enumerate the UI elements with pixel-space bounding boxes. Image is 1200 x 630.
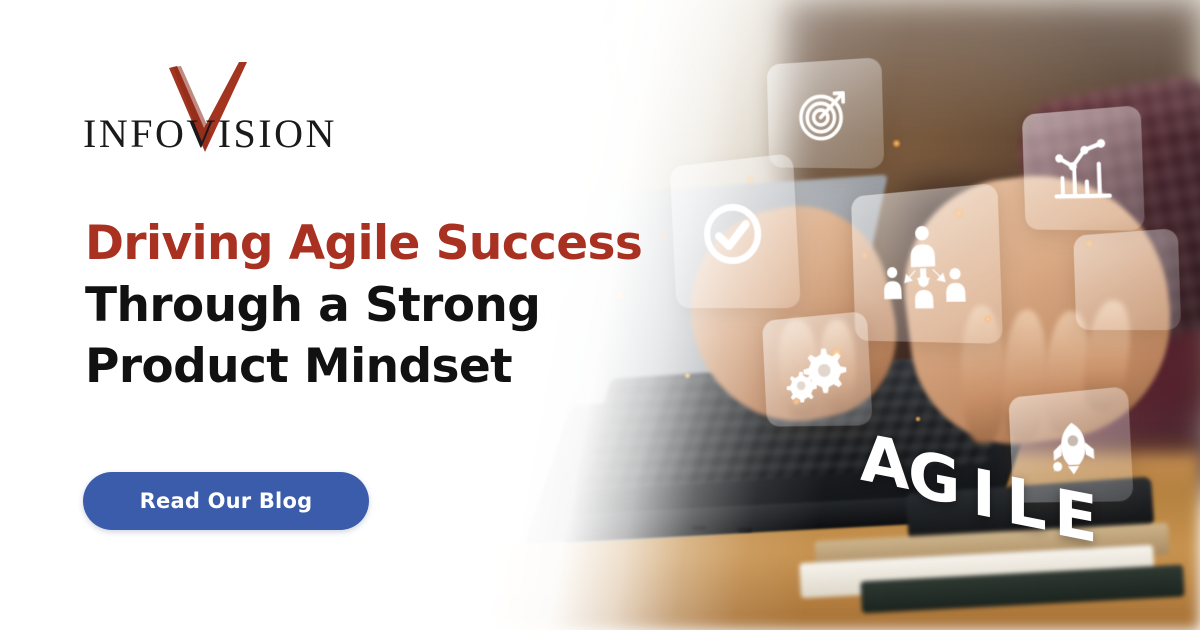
icon-card-target <box>767 57 885 169</box>
target-icon <box>793 82 854 146</box>
logo-wordmark: INFOVISION <box>83 110 337 157</box>
gears-icon <box>784 338 848 403</box>
org-chart-icon <box>877 219 971 310</box>
read-our-blog-button[interactable]: Read Our Blog <box>83 472 369 530</box>
logo[interactable]: INFOVISION <box>83 62 313 142</box>
headline-line-1: Driving Agile Success <box>85 213 695 275</box>
headline-line-2: Through a Strong <box>85 275 695 337</box>
check-circle-icon <box>696 194 770 272</box>
icon-card-gears <box>762 311 873 427</box>
icon-card-org-chart <box>851 183 1003 344</box>
headline: Driving Agile Success Through a Strong P… <box>85 213 695 398</box>
content-panel: INFOVISION Driving Agile Success Through… <box>0 0 700 630</box>
bar-chart-icon <box>1046 134 1117 205</box>
marketing-banner: A G I L E INFOVISION Driving Agile Succe… <box>0 0 1200 630</box>
icon-card-rocket <box>1008 386 1133 503</box>
icon-card-partial <box>1073 228 1181 330</box>
icon-card-bar-chart <box>1022 105 1145 231</box>
laptop-port <box>738 528 752 532</box>
headline-line-3: Product Mindset <box>85 336 695 398</box>
rocket-icon <box>1039 415 1099 478</box>
